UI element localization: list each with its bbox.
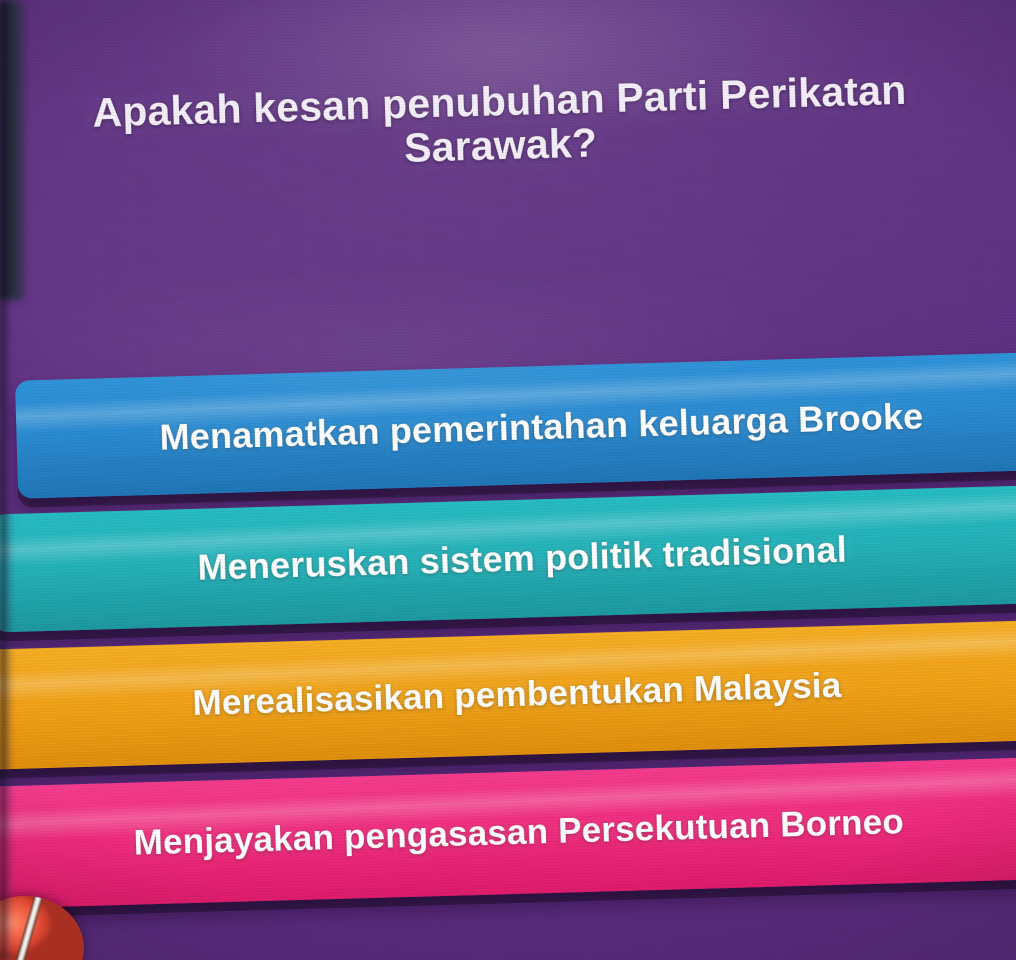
answer-option-2[interactable]: Meneruskan sistem politik tradisional <box>0 485 1016 633</box>
answer-option-3-label: Merealisasikan pembentukan Malaysia <box>0 661 1016 729</box>
answer-options-list: Menamatkan pemerintahan keluarga Brooke … <box>0 0 1016 960</box>
answer-option-1[interactable]: Menamatkan pemerintahan keluarga Brooke <box>15 351 1016 498</box>
photographed-screen: Apakah kesan penubuhan Parti Perikatan S… <box>0 0 1016 960</box>
answer-option-3[interactable]: Merealisasikan pembentukan Malaysia <box>0 620 1016 770</box>
answer-option-4[interactable]: Menjayakan pengasasan Persekutuan Borneo <box>0 757 1016 909</box>
answer-option-1-label: Menamatkan pemerintahan keluarga Brooke <box>16 393 1016 462</box>
answer-option-4-label: Menjayakan pengasasan Persekutuan Borneo <box>0 798 1016 867</box>
quiz-screen: Apakah kesan penubuhan Parti Perikatan S… <box>0 0 1016 960</box>
answer-option-2-label: Meneruskan sistem politik tradisional <box>0 524 1016 593</box>
ball-seam <box>0 896 48 960</box>
